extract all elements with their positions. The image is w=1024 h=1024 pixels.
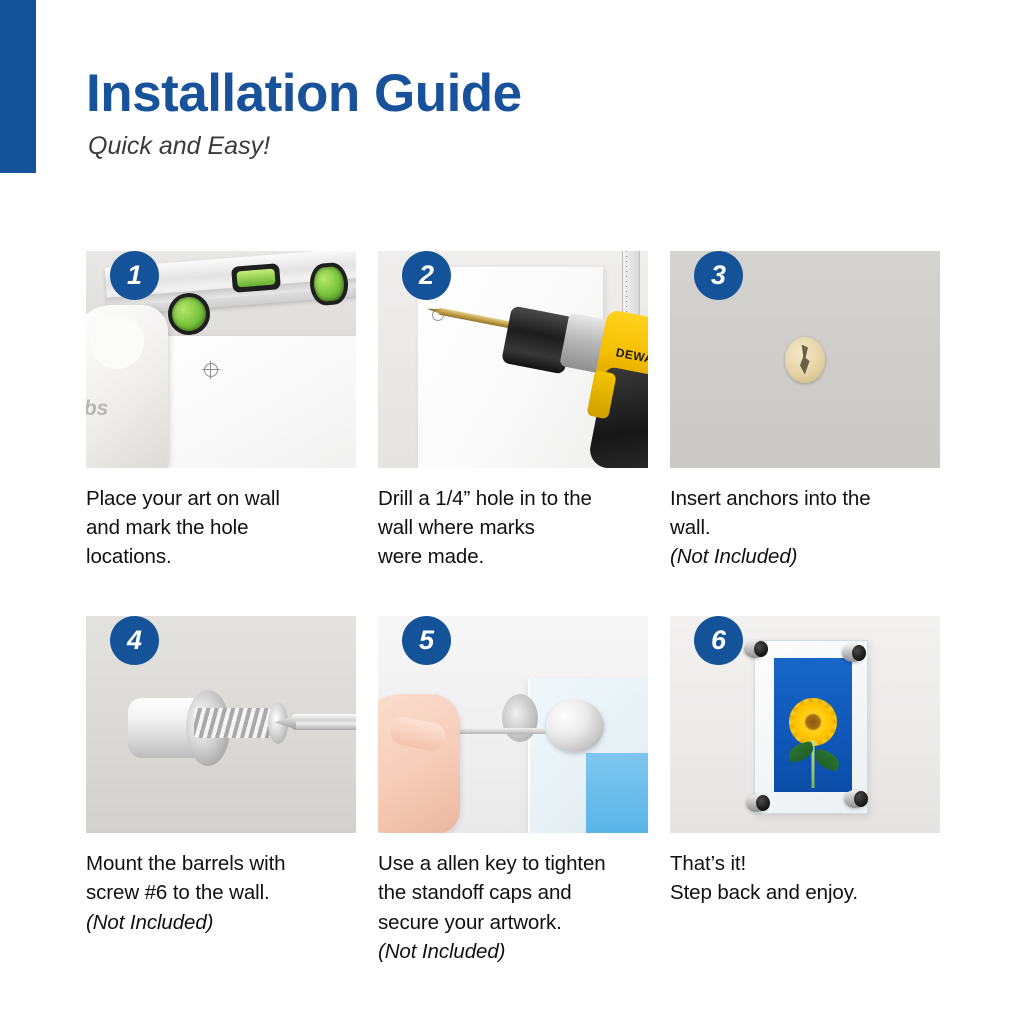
caption-line-1: That’s it! (670, 849, 940, 878)
acrylic-sheet (528, 678, 648, 833)
caption-line-1: Place your art on wall (86, 484, 356, 513)
installation-guide-page: Installation Guide Quick and Easy! 1 lbs (0, 0, 1024, 1024)
artwork-corner (586, 753, 648, 833)
caption-line-2: the standoff caps and (378, 878, 648, 907)
step-photo-4: 4 (86, 616, 356, 833)
step-caption-4: Mount the barrels with screw #6 to the w… (86, 849, 356, 936)
drill-brand-label: DEWALT (615, 345, 648, 369)
step-badge-3: 3 (694, 251, 743, 300)
phillips-screwdriver (292, 714, 356, 730)
caption-line-2: wall. (670, 513, 940, 542)
caption-line-1: Drill a 1/4” hole in to the (378, 484, 648, 513)
sunflower-center (793, 702, 833, 742)
screw-thread (194, 708, 272, 738)
drill-handle (587, 366, 648, 468)
step-caption-2: Drill a 1/4” hole in to the wall where m… (378, 484, 648, 571)
step-card-4: 4 Mount the barrels with screw #6 to the… (86, 593, 356, 965)
step-card-3: 3 Insert anchors into the wall. (Not Inc… (670, 228, 940, 571)
step-caption-3: Insert anchors into the wall. (Not Inclu… (670, 484, 940, 571)
step-badge-6: 6 (694, 616, 743, 665)
step-badge-4: 4 (110, 616, 159, 665)
step-card-2: 2 DEWALT Drill a 1/4” hole in to the (378, 228, 648, 571)
wall-anchor (785, 337, 825, 383)
glove-logo: lbs (86, 397, 136, 427)
caption-line-1: Insert anchors into the (670, 484, 940, 513)
step-badge-1: 1 (110, 251, 159, 300)
step-card-5: 5 Use a allen key to tighten the stand (378, 593, 648, 965)
caption-line-2: and mark the hole (86, 513, 356, 542)
caption-line-1: Use a allen key to tighten (378, 849, 648, 878)
caption-line-3: were made. (378, 542, 648, 571)
step-card-1: 1 lbs Place your art on wall and mark th… (86, 228, 356, 571)
page-title: Installation Guide (86, 66, 786, 122)
caption-line-1: Mount the barrels with (86, 849, 356, 878)
step-photo-3: 3 (670, 251, 940, 468)
page-subtitle: Quick and Easy! (88, 132, 786, 161)
header-accent-bar (0, 0, 36, 173)
caption-line-3: locations. (86, 542, 356, 571)
acrylic-panel (148, 336, 356, 468)
caption-line-2: screw #6 to the wall. (86, 878, 356, 907)
step-photo-2: 2 DEWALT (378, 251, 648, 468)
step-card-6: 6 That’s it! (670, 593, 940, 965)
standoff-bottom-left (746, 794, 768, 812)
page-header: Installation Guide Quick and Easy! (86, 66, 786, 161)
hole-mark-icon (204, 363, 218, 377)
step-caption-5: Use a allen key to tighten the standoff … (378, 849, 648, 965)
step-badge-5: 5 (402, 616, 451, 665)
step-caption-1: Place your art on wall and mark the hole… (86, 484, 356, 571)
standoff-bottom-right (844, 790, 866, 808)
allen-key-shaft (450, 728, 546, 734)
step-photo-1: 1 lbs (86, 251, 356, 468)
caption-line-2: wall where marks (378, 513, 648, 542)
step-photo-5: 5 (378, 616, 648, 833)
finger (388, 715, 449, 754)
caption-note: (Not Included) (670, 545, 797, 568)
standoff-top-right (842, 644, 864, 662)
caption-note: (Not Included) (86, 908, 356, 937)
step-badge-2: 2 (402, 251, 451, 300)
caption-line-3: secure your artwork. (378, 908, 648, 937)
hand (378, 694, 460, 833)
steps-grid: 1 lbs Place your art on wall and mark th… (86, 228, 941, 966)
standoff-cap (546, 700, 604, 752)
level-vial-center (231, 263, 281, 293)
step-caption-6: That’s it! Step back and enjoy. (670, 849, 940, 907)
caption-line-2: Step back and enjoy. (670, 878, 940, 907)
artwork-print (774, 658, 852, 792)
standoff-top-left (744, 640, 766, 658)
standoff-base (502, 694, 538, 742)
caption-note: (Not Included) (378, 937, 648, 966)
step-photo-6: 6 (670, 616, 940, 833)
flower-leaf-right (812, 748, 842, 773)
work-glove: lbs (86, 305, 168, 468)
